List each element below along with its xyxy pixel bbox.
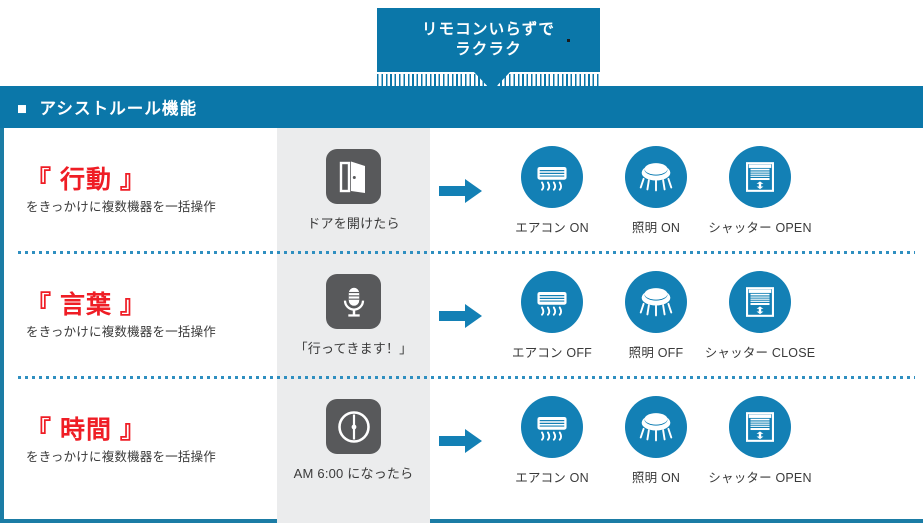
trigger-text-column: 『 時間 』 をきっかけに複数機器を一括操作 xyxy=(4,416,277,466)
air-conditioner-icon xyxy=(521,396,583,458)
trigger-title: 『 行動 』 xyxy=(26,166,277,195)
trigger-text-column: 『 行動 』 をきっかけに複数機器を一括操作 xyxy=(4,166,277,216)
panel-title-text: アシストルール機能 xyxy=(39,100,197,118)
rule-row: 『 言葉 』 をきっかけに複数機器を一括操作 xyxy=(4,253,923,378)
open-door-icon xyxy=(326,149,381,204)
trigger-title: 『 言葉 』 xyxy=(26,291,277,320)
device-label: エアコン OFF xyxy=(512,342,592,361)
right-arrow-icon xyxy=(439,303,483,329)
assist-rule-panel: ■ アシストルール機能 『 行動 』 をきっかけに複数機器を一括操作 ドアを開け… xyxy=(0,86,923,523)
device-item: 照明 ON xyxy=(604,146,708,236)
panel-body: 『 行動 』 をきっかけに複数機器を一括操作 ドアを開けたら xyxy=(0,128,923,523)
device-label: エアコン ON xyxy=(515,467,589,486)
device-label: 照明 ON xyxy=(632,217,680,236)
shutter-icon xyxy=(729,271,791,333)
callout-dot xyxy=(567,39,570,42)
microphone-icon xyxy=(326,274,381,329)
device-column: エアコン ON xyxy=(492,396,923,486)
trigger-caption: AM 6:00 になったら xyxy=(294,463,414,482)
ceiling-light-icon xyxy=(625,271,687,333)
square-bullet-icon: ■ xyxy=(17,100,28,118)
trigger-title: 『 時間 』 xyxy=(26,416,277,445)
air-conditioner-icon xyxy=(521,271,583,333)
trigger-icon-column: AM 6:00 になったら xyxy=(277,378,430,503)
device-label: 照明 OFF xyxy=(629,342,684,361)
trigger-text-column: 『 言葉 』 をきっかけに複数機器を一括操作 xyxy=(4,291,277,341)
shutter-icon xyxy=(729,396,791,458)
device-item: エアコン ON xyxy=(500,396,604,486)
device-item: シャッター OPEN xyxy=(708,396,812,486)
air-conditioner-icon xyxy=(521,146,583,208)
device-label: エアコン ON xyxy=(515,217,589,236)
device-item: 照明 ON xyxy=(604,396,708,486)
trigger-subtitle: をきっかけに複数機器を一括操作 xyxy=(26,196,277,215)
ceiling-light-icon xyxy=(625,146,687,208)
ceiling-light-icon xyxy=(625,396,687,458)
device-item: エアコン OFF xyxy=(500,271,604,361)
device-column: エアコン OFF xyxy=(492,271,923,361)
arrow-column xyxy=(430,428,492,454)
device-item: シャッター CLOSE xyxy=(708,271,812,361)
device-item: 照明 OFF xyxy=(604,271,708,361)
trigger-subtitle: をきっかけに複数機器を一括操作 xyxy=(26,446,277,465)
trigger-subtitle: をきっかけに複数機器を一括操作 xyxy=(26,321,277,340)
shutter-icon xyxy=(729,146,791,208)
callout-banner: リモコンいらずで ラクラク xyxy=(0,0,923,90)
arrow-column xyxy=(430,178,492,204)
trigger-caption: 「行ってきます！」 xyxy=(295,338,413,357)
callout-line-1: リモコンいらずで xyxy=(422,20,555,40)
device-item: シャッター OPEN xyxy=(708,146,812,236)
right-arrow-icon xyxy=(439,178,483,204)
callout-line-2: ラクラク xyxy=(455,40,522,60)
panel-header: ■ アシストルール機能 xyxy=(0,86,923,128)
trigger-icon-column: 「行ってきます！」 xyxy=(277,253,430,378)
panel-title: ■ アシストルール機能 xyxy=(17,95,197,119)
rule-row: 『 時間 』 をきっかけに複数機器を一括操作 AM 6:00 になったら xyxy=(4,378,923,503)
device-label: シャッター CLOSE xyxy=(705,342,816,361)
arrow-column xyxy=(430,303,492,329)
clock-icon xyxy=(326,399,381,454)
device-label: シャッター OPEN xyxy=(708,467,811,486)
trigger-caption: ドアを開けたら xyxy=(307,213,399,232)
trigger-icon-column: ドアを開けたら xyxy=(277,128,430,253)
right-arrow-icon xyxy=(439,428,483,454)
device-item: エアコン ON xyxy=(500,146,604,236)
device-label: 照明 ON xyxy=(632,467,680,486)
device-column: エアコン ON xyxy=(492,146,923,236)
rule-row: 『 行動 』 をきっかけに複数機器を一括操作 ドアを開けたら xyxy=(4,128,923,253)
device-label: シャッター OPEN xyxy=(708,217,811,236)
